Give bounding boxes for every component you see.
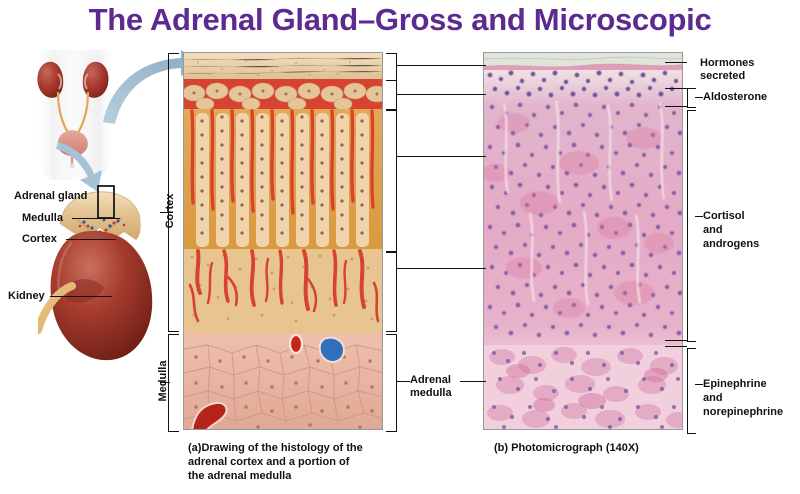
label-medulla-vertical: Medulla xyxy=(157,336,169,426)
hormones-header-line1: Hormones xyxy=(700,57,754,70)
label-adrenal-gland: Adrenal gland xyxy=(14,190,87,203)
tie-line-reticularis xyxy=(396,268,486,269)
bracket-medulla xyxy=(168,334,179,432)
tie-line-medulla xyxy=(396,381,410,382)
label-adrenal-medulla-line2: medulla xyxy=(410,387,452,400)
label-adrenal-medulla-line1: Adrenal xyxy=(410,374,451,387)
tick-epinephrine xyxy=(695,384,703,385)
arteriole xyxy=(290,335,302,353)
bracket-aldosterone xyxy=(687,88,696,108)
leader-kidney xyxy=(50,296,112,297)
tie-line-fasciculata xyxy=(396,156,486,157)
bracket-epinephrine xyxy=(687,348,696,434)
bracket-a-reticularis xyxy=(386,252,397,332)
leader-medulla xyxy=(72,218,120,219)
label-cortisol-line3: androgens xyxy=(703,238,759,251)
label-epinephrine-line3: norepinephrine xyxy=(703,406,783,419)
caption-a-line2: adrenal cortex and a portion of xyxy=(188,456,349,470)
tie-b-glomerulosa xyxy=(665,88,687,89)
label-medulla: Medulla xyxy=(22,212,63,225)
label-aldosterone: Aldosterone xyxy=(703,91,767,104)
label-epinephrine-line1: Epinephrine xyxy=(703,378,767,391)
label-kidney: Kidney xyxy=(8,290,45,303)
label-cortisol-line1: Cortisol xyxy=(703,210,745,223)
tie-line-glomerulosa xyxy=(396,94,486,95)
tie-b-capsule xyxy=(665,62,687,63)
tie-line-medulla-right xyxy=(460,381,486,382)
caption-a-line3: the adrenal medulla xyxy=(188,470,291,484)
kidney-adrenal-illustration xyxy=(38,180,168,375)
page-title: The Adrenal Gland–Gross and Microscopic xyxy=(0,2,800,38)
label-cortex: Cortex xyxy=(22,233,57,246)
caption-a-line1: (a)Drawing of the histology of the xyxy=(188,442,363,456)
bracket-cortisol xyxy=(687,110,696,342)
label-cortisol-line2: and xyxy=(703,224,723,237)
caption-b: (b) Photomicrograph (140X) xyxy=(494,442,639,456)
label-cortex-vertical: Cortex xyxy=(164,171,176,251)
leader-cortex xyxy=(66,239,116,240)
panel-b-photomicrograph xyxy=(483,52,683,430)
bracket-a-fasciculata xyxy=(386,110,397,252)
bracket-a-capsule xyxy=(386,53,397,81)
central-vein xyxy=(320,338,344,362)
tie-b-medulla xyxy=(665,346,687,347)
tie-line-capsule xyxy=(396,65,486,66)
bracket-a-medulla xyxy=(386,334,397,432)
tick-cortisol xyxy=(695,216,703,217)
label-epinephrine-line2: and xyxy=(703,392,723,405)
tie-b-fasciculata xyxy=(665,106,687,107)
panel-a-drawing xyxy=(183,52,383,430)
bracket-a-glomerulosa xyxy=(386,80,397,110)
tick-aldosterone xyxy=(695,97,703,98)
tie-b-reticularis xyxy=(665,340,687,341)
hormones-header-line2: secreted xyxy=(700,70,745,83)
